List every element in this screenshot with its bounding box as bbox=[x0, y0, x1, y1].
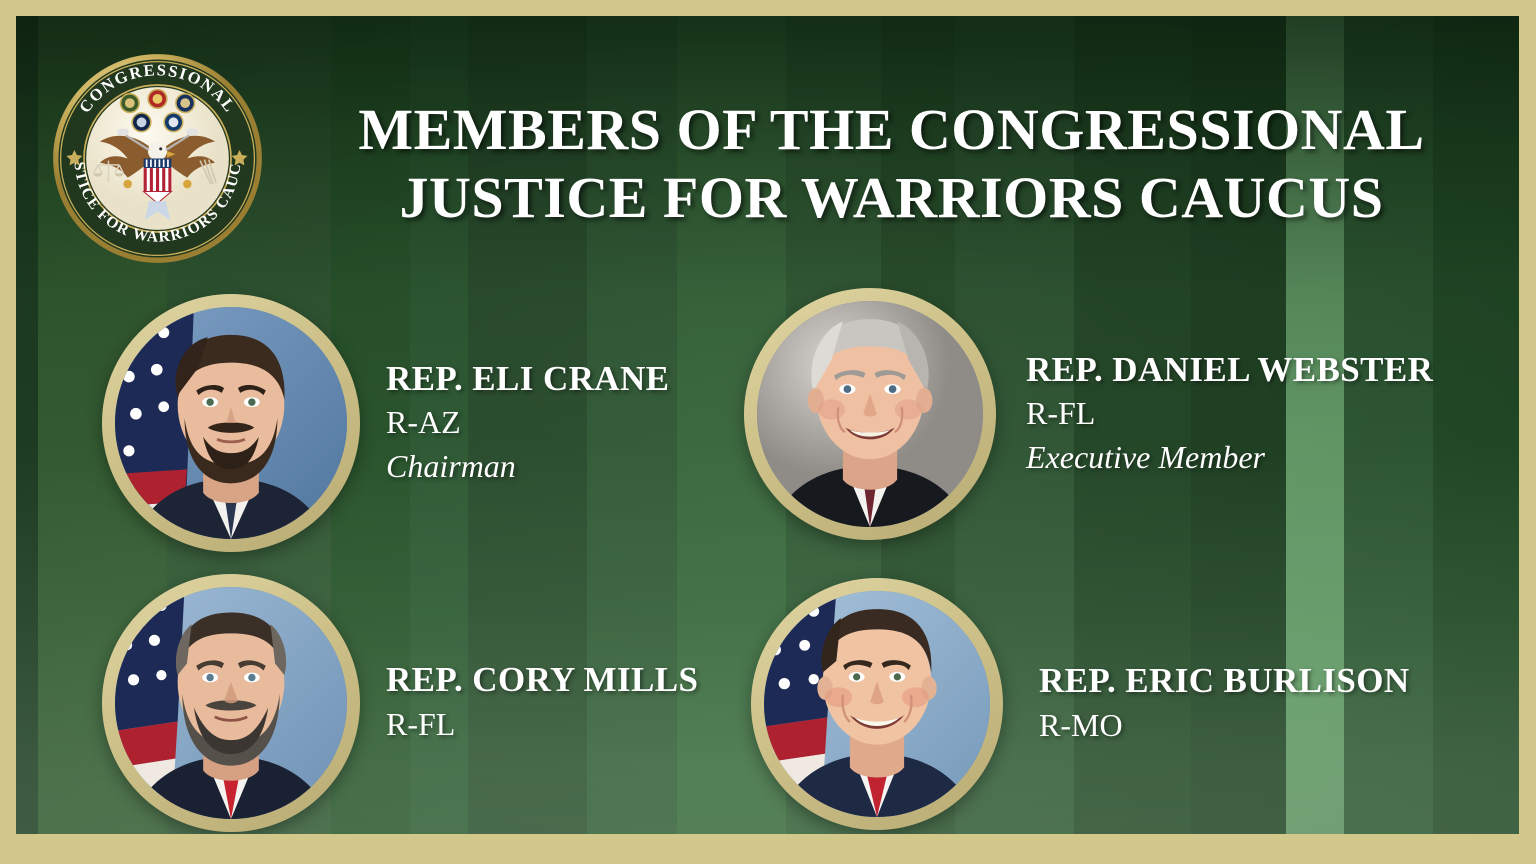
member-name: REP. ELI CRANE bbox=[386, 360, 669, 397]
member-info-webster: REP. DANIEL WEBSTER R-FL Executive Membe… bbox=[1026, 351, 1433, 478]
portrait-photo-burlison bbox=[764, 591, 990, 817]
portrait-photo-crane bbox=[115, 307, 347, 539]
member-card-burlison: REP. ERIC BURLISON R-MO bbox=[751, 578, 1410, 830]
member-party-state: R-FL bbox=[1026, 393, 1433, 434]
member-role: Executive Member bbox=[1026, 437, 1433, 478]
caucus-members-graphic: CONGRESSIONAL JUSTICE FOR WARRIORS CAUCU… bbox=[0, 0, 1536, 864]
portrait-frame-webster bbox=[744, 288, 996, 540]
member-card-webster: REP. DANIEL WEBSTER R-FL Executive Membe… bbox=[744, 288, 1433, 540]
member-info-mills: REP. CORY MILLS R-FL bbox=[386, 661, 698, 744]
member-name: REP. ERIC BURLISON bbox=[1039, 662, 1410, 699]
member-name: REP. DANIEL WEBSTER bbox=[1026, 351, 1433, 388]
member-party-state: R-AZ bbox=[386, 402, 669, 443]
member-info-burlison: REP. ERIC BURLISON R-MO bbox=[1039, 662, 1410, 745]
member-info-crane: REP. ELI CRANE R-AZ Chairman bbox=[386, 360, 669, 487]
title-line-1: MEMBERS OF THE CONGRESSIONAL bbox=[284, 96, 1499, 164]
member-card-crane: REP. ELI CRANE R-AZ Chairman bbox=[102, 294, 669, 552]
title-line-2: JUSTICE FOR WARRIORS CAUCUS bbox=[284, 164, 1499, 232]
portrait-frame-crane bbox=[102, 294, 360, 552]
graphic-stage: CONGRESSIONAL JUSTICE FOR WARRIORS CAUCU… bbox=[16, 16, 1519, 834]
member-role: Chairman bbox=[386, 446, 669, 487]
member-name: REP. CORY MILLS bbox=[386, 661, 698, 698]
caucus-seal-icon: CONGRESSIONAL JUSTICE FOR WARRIORS CAUCU… bbox=[51, 52, 264, 265]
member-card-mills: REP. CORY MILLS R-FL bbox=[102, 574, 698, 832]
graphic-title: MEMBERS OF THE CONGRESSIONAL JUSTICE FOR… bbox=[284, 96, 1499, 232]
portrait-frame-mills bbox=[102, 574, 360, 832]
portrait-photo-mills bbox=[115, 587, 347, 819]
member-party-state: R-MO bbox=[1039, 705, 1410, 746]
member-party-state: R-FL bbox=[386, 704, 698, 745]
portrait-photo-webster bbox=[757, 301, 983, 527]
background-band-0 bbox=[16, 16, 38, 834]
portrait-frame-burlison bbox=[751, 578, 1003, 830]
